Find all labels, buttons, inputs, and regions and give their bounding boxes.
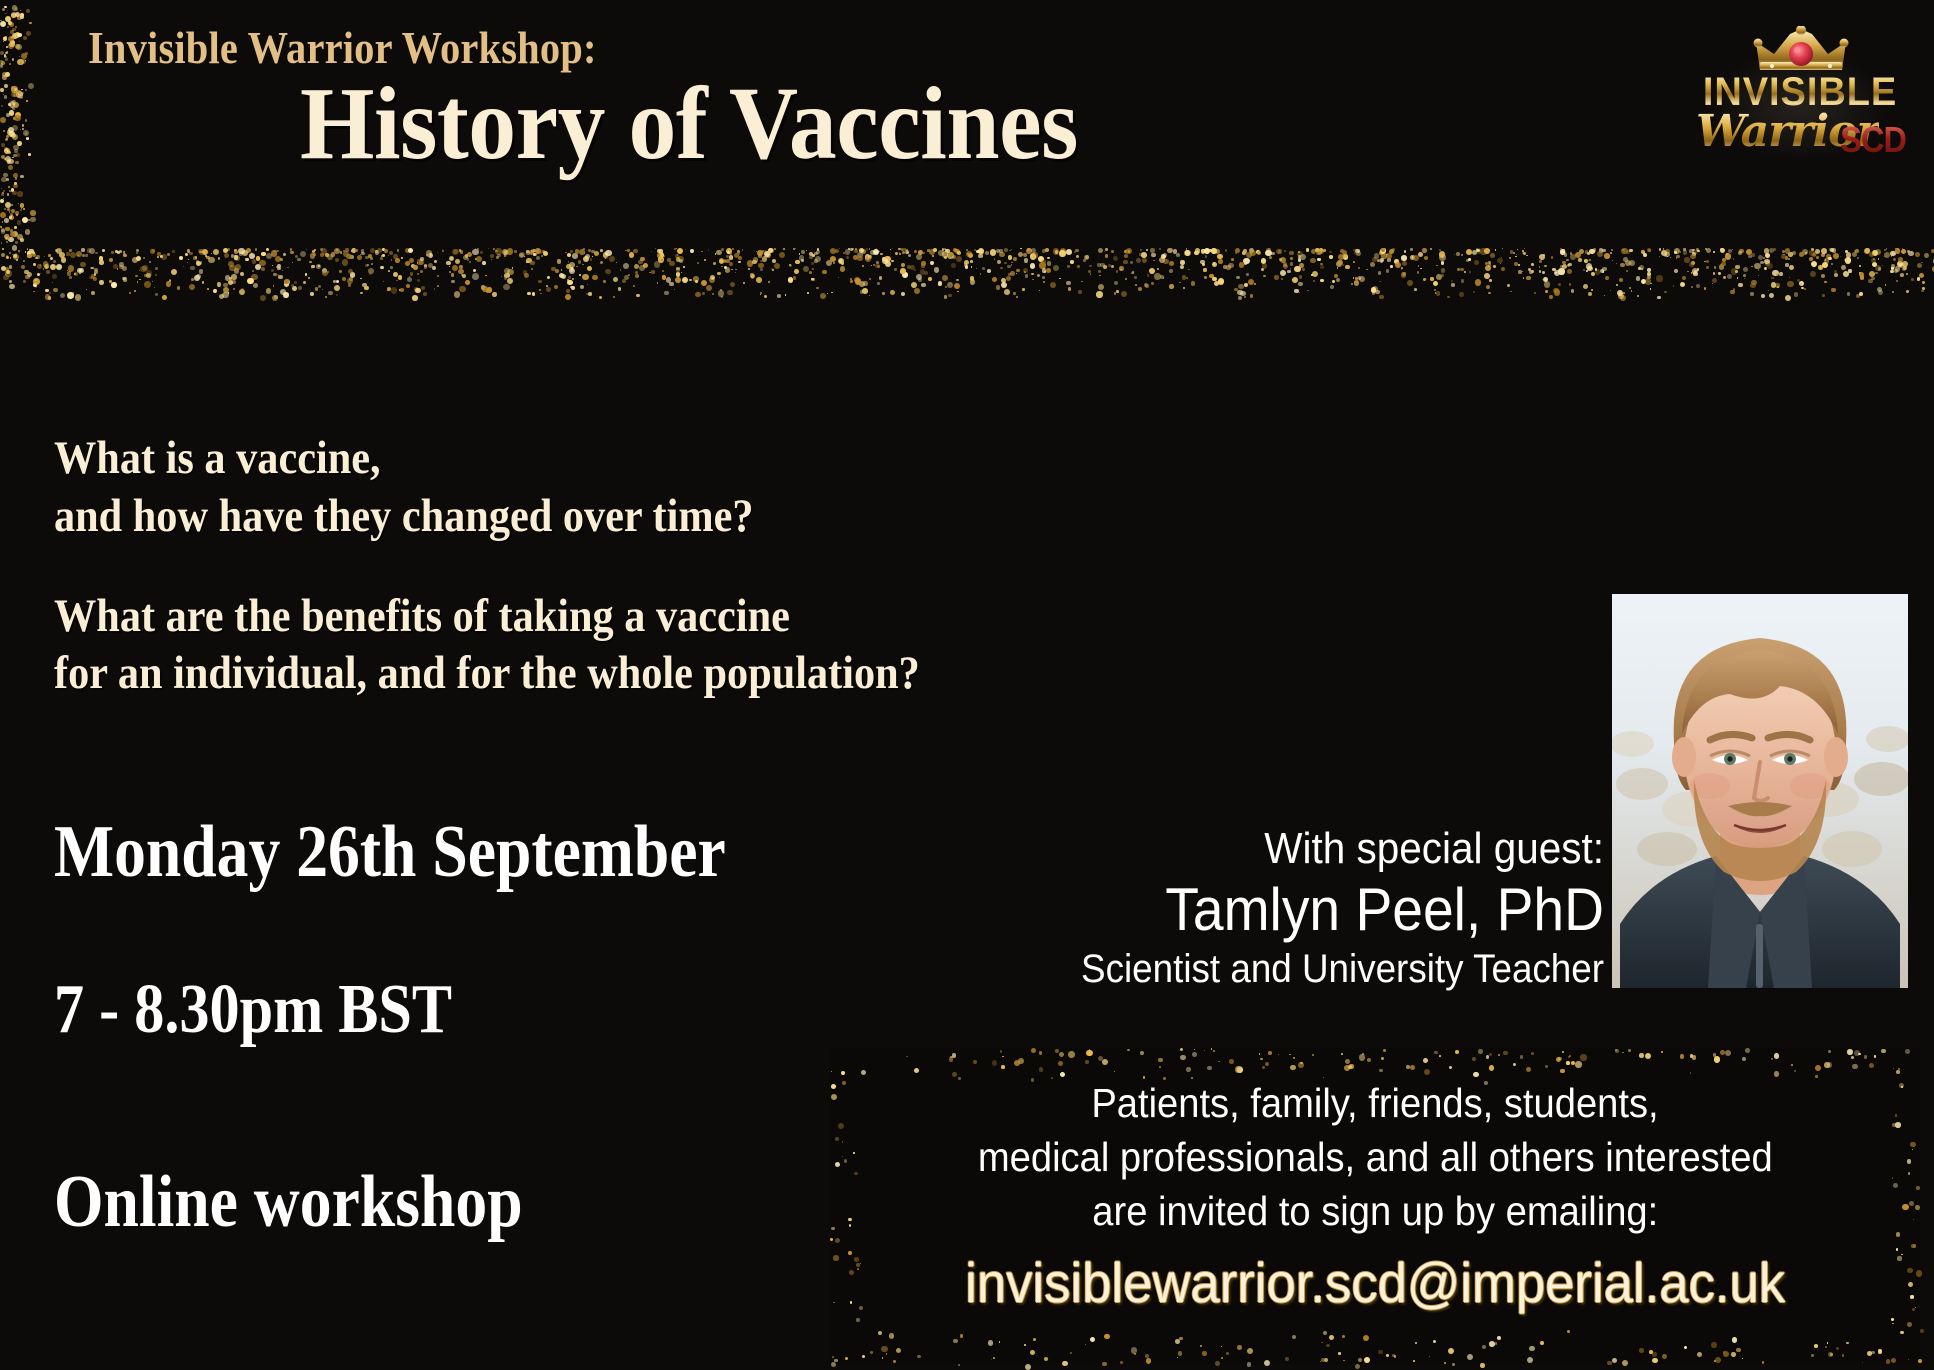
guest-intro-label: With special guest: <box>960 824 1604 873</box>
special-guest-block: With special guest: Tamlyn Peel, PhD Sci… <box>904 824 1604 992</box>
crown-icon <box>1752 26 1850 74</box>
signup-line-1: Patients, family, friends, students, <box>1091 1076 1658 1130</box>
event-format: Online workshop <box>54 1165 523 1239</box>
signup-line-2: medical professionals, and all others in… <box>978 1130 1773 1184</box>
page-title: History of Vaccines <box>300 72 1078 176</box>
guest-role: Scientist and University Teacher <box>960 946 1604 992</box>
signup-line-3: are invited to sign up by emailing: <box>1092 1184 1658 1238</box>
brand-logo: INVISIBLE Warrior SCD <box>1690 26 1910 166</box>
signup-box: Patients, family, friends, students, med… <box>830 1048 1920 1364</box>
event-date: Monday 26th September <box>54 815 726 889</box>
question-1: What is a vaccine, and how have they cha… <box>54 430 1179 546</box>
jewel-icon <box>1789 42 1813 66</box>
question-2-line-2: for an individual, and for the whole pop… <box>54 645 1179 703</box>
question-2: What are the benefits of taking a vaccin… <box>54 588 1179 704</box>
guest-name: Tamlyn Peel, PhD <box>960 875 1604 944</box>
question-1-line-1: What is a vaccine, <box>54 430 1179 488</box>
question-2-line-1: What are the benefits of taking a vaccin… <box>54 588 1179 646</box>
guest-portrait-photo <box>1612 594 1908 988</box>
question-1-line-2: and how have they changed over time? <box>54 488 1179 546</box>
logo-wordmark-scd: SCD <box>1840 122 1906 158</box>
signup-email-address[interactable]: invisiblewarrior.scd@imperial.ac.uk <box>965 1252 1785 1314</box>
workshop-questions: What is a vaccine, and how have they cha… <box>54 430 1304 703</box>
poster-root: Invisible Warrior Workshop: History of V… <box>0 0 1934 1370</box>
poster-header: Invisible Warrior Workshop: History of V… <box>0 0 1934 250</box>
event-time: 7 - 8.30pm BST <box>54 975 452 1045</box>
